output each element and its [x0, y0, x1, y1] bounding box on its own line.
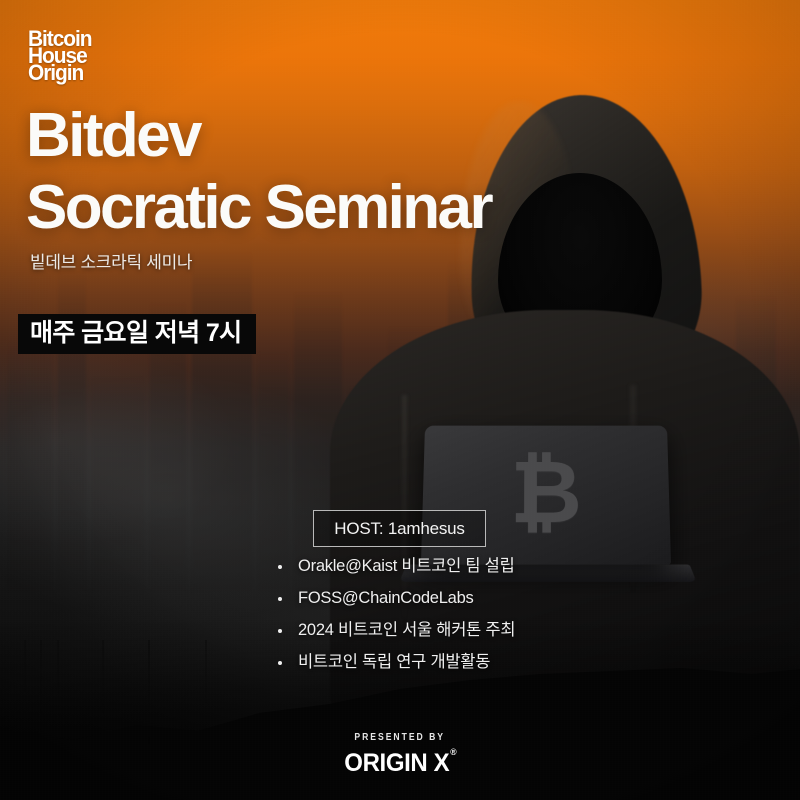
sponsor-logo: ORIGIN X®	[345, 749, 456, 778]
list-item: Orakle@Kaist 비트코인 팀 설립	[276, 557, 515, 576]
list-item: FOSS@ChainCodeLabs	[276, 589, 515, 608]
list-item: 2024 비트코인 서울 해커톤 주최	[276, 621, 515, 640]
poster-content: Bitcoin House Origin Bitdev Socratic Sem…	[0, 0, 800, 800]
page-title: Bitdev Socratic Seminar	[26, 100, 491, 244]
sponsor-name: ORIGIN X	[345, 749, 450, 777]
presented-by-label: PRESENTED BY	[355, 732, 446, 743]
host-badge: HOST: 1amhesus	[313, 510, 486, 547]
credentials-list: Orakle@Kaist 비트코인 팀 설립 FOSS@ChainCodeLab…	[276, 557, 515, 685]
schedule-badge: 매주 금요일 저녁 7시	[18, 314, 256, 354]
registered-mark-icon: ®	[450, 747, 456, 757]
list-item: 비트코인 독립 연구 개발활동	[276, 653, 515, 672]
headline-line-2: Socratic Seminar	[26, 172, 491, 244]
brand-logo-line-3: Origin	[28, 64, 92, 81]
host-label: HOST: 1amhesus	[334, 519, 464, 539]
poster-canvas: ₿ Bitcoin House Origin Bitdev Socratic S…	[0, 0, 800, 800]
subtitle-korean: 빝데브 소크라틱 세미나	[30, 248, 192, 273]
brand-logo: Bitcoin House Origin	[28, 30, 92, 81]
footer: PRESENTED BY ORIGIN X®	[0, 727, 800, 778]
headline-line-1: Bitdev	[26, 100, 491, 172]
